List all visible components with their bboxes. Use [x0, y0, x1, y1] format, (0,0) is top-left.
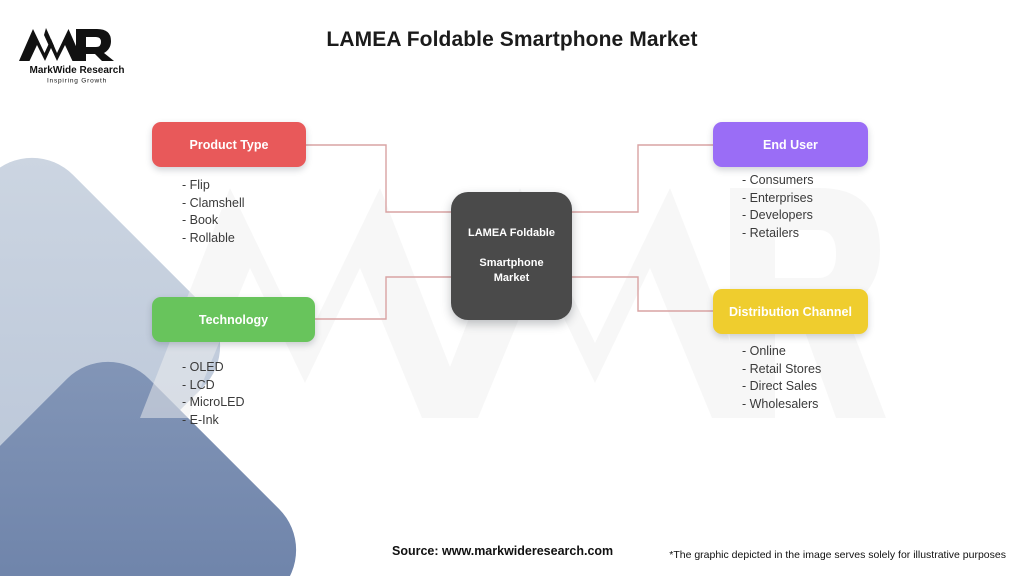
- list-item: - Consumers: [742, 172, 814, 190]
- center-line-2: Smartphone Market: [457, 256, 566, 286]
- list-item: - MicroLED: [182, 394, 245, 412]
- node-technology[interactable]: Technology: [152, 297, 315, 342]
- list-item: - LCD: [182, 377, 245, 395]
- list-item: - Clamshell: [182, 195, 245, 213]
- disclaimer-text: *The graphic depicted in the image serve…: [669, 549, 1006, 561]
- list-item: - Developers: [742, 207, 814, 225]
- list-item: - Direct Sales: [742, 378, 821, 396]
- items-technology: - OLED - LCD - MicroLED - E-Ink: [182, 359, 245, 429]
- node-product-type[interactable]: Product Type: [152, 122, 306, 167]
- node-end-user-label: End User: [763, 138, 818, 152]
- node-center-market[interactable]: LAMEA Foldable Smartphone Market: [451, 192, 572, 320]
- list-item: - Online: [742, 343, 821, 361]
- list-item: - Retail Stores: [742, 361, 821, 379]
- node-distribution-channel-label: Distribution Channel: [729, 305, 852, 319]
- node-technology-label: Technology: [199, 313, 268, 327]
- node-distribution-channel[interactable]: Distribution Channel: [713, 289, 868, 334]
- items-distribution-channel: - Online - Retail Stores - Direct Sales …: [742, 343, 821, 413]
- diagram-canvas: MarkWide Research Inspiring Growth LAMEA…: [0, 0, 1024, 576]
- list-item: - Retailers: [742, 225, 814, 243]
- list-item: - Flip: [182, 177, 245, 195]
- list-item: - Book: [182, 212, 245, 230]
- list-item: - Enterprises: [742, 190, 814, 208]
- list-item: - Rollable: [182, 230, 245, 248]
- node-product-type-label: Product Type: [190, 138, 269, 152]
- source-text: Source: www.markwideresearch.com: [392, 544, 613, 558]
- list-item: - Wholesalers: [742, 396, 821, 414]
- items-product-type: - Flip - Clamshell - Book - Rollable: [182, 177, 245, 247]
- items-end-user: - Consumers - Enterprises - Developers -…: [742, 172, 814, 242]
- node-end-user[interactable]: End User: [713, 122, 868, 167]
- center-line-1: LAMEA Foldable: [457, 226, 566, 241]
- list-item: - E-Ink: [182, 412, 245, 430]
- list-item: - OLED: [182, 359, 245, 377]
